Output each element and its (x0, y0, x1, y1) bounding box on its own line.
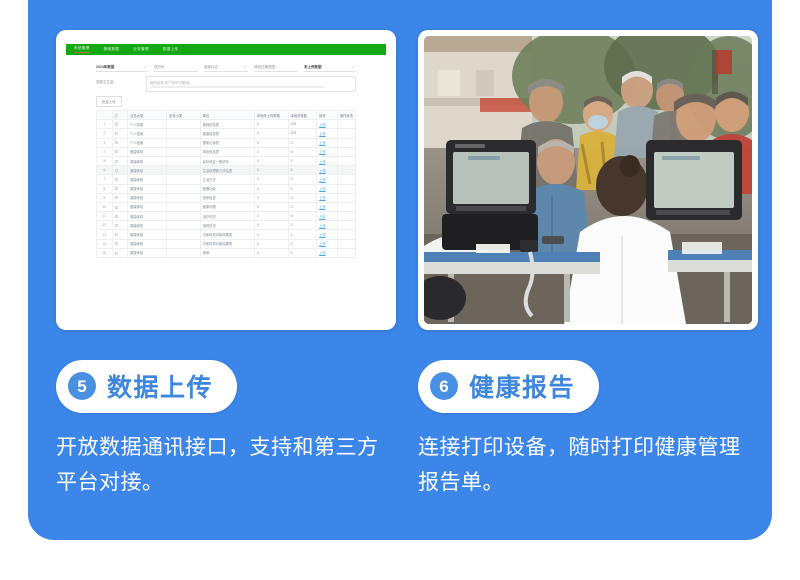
cell-table-name: 治疗情况 (200, 212, 254, 221)
checkbox-icon[interactable] (115, 169, 118, 172)
placeholder-ghost-line (150, 86, 324, 88)
badge-number-5: 5 (68, 372, 96, 400)
cell-table-name: 症状体征一般填写 (200, 156, 254, 165)
nav-item-0[interactable]: 系统管理 (74, 46, 90, 53)
upload-link[interactable]: 上传 (319, 178, 326, 182)
cell-table-name: 中医体质问卷结果表 (200, 239, 254, 248)
table-row[interactable]: 2个人档案健康信息表0103上传 (97, 129, 356, 138)
cell-pending-count: 0 (254, 193, 288, 202)
checkbox-icon[interactable] (115, 123, 118, 126)
health-screening-photo (424, 36, 752, 324)
cell-total-count: 0 (288, 166, 316, 175)
badge-health-report: 6 健康报告 (418, 360, 599, 413)
cell-category-minor (166, 212, 200, 221)
cell-action[interactable]: 上传 (317, 193, 338, 202)
cell-table-name: 脏器功能 (200, 184, 254, 193)
cell-index: 10 (97, 202, 113, 211)
th-category-minor: 业务小类 (166, 111, 200, 120)
cell-action-status (337, 129, 355, 138)
cell-total-count: 0 (288, 147, 316, 156)
description-data-upload: 开放数据通讯接口，支持和第三方平台对接。 (56, 431, 388, 500)
upload-data-table: 业务大类 业务小类 单位 本地未上传条数 本地总条数 操作 操作状态 (96, 110, 356, 258)
cell-action-status (337, 156, 355, 165)
cell-category-major: 健康体检 (128, 147, 167, 156)
badge-number-6: 6 (430, 372, 458, 400)
cell-category-minor (166, 184, 200, 193)
app-top-navbar: 系统管理 基础数据 业务管理 数据上传 (66, 44, 386, 55)
cell-action[interactable]: 上传 (317, 212, 338, 221)
upload-link[interactable]: 上传 (319, 233, 326, 237)
cell-total-count: 0 (288, 138, 316, 147)
cell-index: 3 (97, 138, 113, 147)
upload-link[interactable]: 上传 (319, 160, 326, 164)
cell-checkbox[interactable] (112, 156, 128, 165)
cell-total-count: 103 (288, 129, 316, 138)
th-select-all[interactable] (112, 111, 128, 120)
table-row[interactable]: 10健康体检健康问题00上传 (97, 202, 356, 211)
table-row[interactable]: 13健康体检中医体质问卷采集表00上传 (97, 230, 356, 239)
cell-category-major: 健康体检 (128, 221, 167, 230)
upload-link[interactable]: 上传 (319, 215, 326, 219)
cell-total-count: 103 (288, 120, 316, 129)
cell-total-count: 0 (288, 184, 316, 193)
photo-inner (424, 36, 752, 324)
cell-category-minor (166, 138, 200, 147)
cell-checkbox[interactable] (112, 147, 128, 156)
cell-action-status (337, 120, 355, 129)
page-root: 系统管理 基础数据 业务管理 数据上传 2024年数据 ▾ (0, 0, 800, 580)
cell-category-major: 健康体检 (128, 193, 167, 202)
cell-table-name: 体检信息表 (200, 147, 254, 156)
checkbox-icon[interactable] (115, 242, 118, 245)
upload-link[interactable]: 上传 (319, 150, 326, 154)
filter-status-value: 未上传数据 (304, 65, 322, 70)
th-index (97, 111, 113, 120)
cell-category-major: 健康体检 (128, 156, 167, 165)
cell-index: 1 (97, 120, 113, 129)
filter-date-value: 体检日期范围 (254, 65, 275, 70)
cell-total-count: 0 (288, 193, 316, 202)
cell-category-minor (166, 193, 200, 202)
cell-pending-count: 0 (254, 184, 288, 193)
cell-category-minor (166, 202, 200, 211)
cell-checkbox[interactable] (112, 202, 128, 211)
table-header-row: 业务大类 业务小类 单位 本地未上传条数 本地总条数 操作 操作状态 (97, 111, 356, 120)
chevron-down-icon: ▾ (244, 65, 246, 69)
upload-link[interactable]: 上传 (319, 205, 326, 209)
cell-index: 5 (97, 156, 113, 165)
cell-category-minor (166, 166, 200, 175)
cell-action-status (337, 166, 355, 175)
cell-checkbox[interactable] (112, 248, 128, 257)
cell-category-minor (166, 120, 200, 129)
th-action: 操作 (317, 111, 338, 120)
cell-action[interactable]: 上传 (317, 202, 338, 211)
cell-category-major: 健康体检 (128, 230, 167, 239)
cell-pending-count: 0 (254, 147, 288, 156)
cell-category-major: 健康体检 (128, 166, 167, 175)
id-search-textarea[interactable]: 身份证号(多个逗号分隔)或… (146, 76, 356, 92)
cell-total-count: 0 (288, 239, 316, 248)
chevron-down-icon: ▾ (144, 65, 146, 69)
cell-action-status (337, 175, 355, 184)
checkbox-icon[interactable] (115, 233, 118, 236)
cell-index: 2 (97, 129, 113, 138)
cell-action-status (337, 248, 355, 257)
cell-index: 6 (97, 166, 113, 175)
cell-checkbox[interactable] (112, 120, 128, 129)
cell-checkbox[interactable] (112, 239, 128, 248)
checkbox-icon[interactable] (115, 160, 118, 163)
cell-table-name: 其他 (200, 248, 254, 257)
cell-action[interactable]: 上传 (317, 156, 338, 165)
checkbox-icon[interactable] (115, 187, 118, 190)
cell-index: 13 (97, 230, 113, 239)
data-upload-app-screenshot: 系统管理 基础数据 业务管理 数据上传 2024年数据 ▾ (62, 36, 390, 324)
app-screenshot-frame: 系统管理 基础数据 业务管理 数据上传 2024年数据 ▾ (56, 30, 396, 330)
table-row[interactable]: 15健康体检其他00上传 (97, 248, 356, 257)
cell-index: 9 (97, 193, 113, 202)
cell-checkbox[interactable] (112, 221, 128, 230)
cell-action-status (337, 230, 355, 239)
app-screenshot-inner: 系统管理 基础数据 业务管理 数据上传 2024年数据 ▾ (62, 36, 390, 324)
cell-pending-count: 0 (254, 221, 288, 230)
filter-month-select[interactable]: 选月份 (154, 63, 198, 72)
cell-table-name: 更新记录表 (200, 138, 254, 147)
cell-table-name: 基础信息表 (200, 120, 254, 129)
cell-pending-count: 0 (254, 175, 288, 184)
cell-total-count: 0 (288, 248, 316, 257)
cell-action[interactable]: 上传 (317, 248, 338, 257)
th-pending-count: 本地未上传条数 (254, 111, 288, 120)
table-head: 业务大类 业务小类 单位 本地未上传条数 本地总条数 操作 操作状态 (97, 111, 356, 120)
checkbox-icon[interactable] (115, 206, 118, 209)
id-search-placeholder: 身份证号(多个逗号分隔)或… (150, 81, 193, 85)
cell-action[interactable]: 上传 (317, 147, 338, 156)
table-row[interactable]: 1个人档案基础信息表0103上传 (97, 120, 356, 129)
cell-category-minor (166, 248, 200, 257)
upload-link[interactable]: 上传 (319, 224, 326, 228)
nav-item-2[interactable]: 业务管理 (133, 47, 149, 52)
cell-index: 11 (97, 212, 113, 221)
cell-pending-count: 0 (254, 239, 288, 248)
cell-pending-count: 0 (254, 212, 288, 221)
cell-pending-count: 0 (254, 230, 288, 239)
cell-action[interactable]: 上传 (317, 184, 338, 193)
cell-total-count: 0 (288, 175, 316, 184)
upload-link[interactable]: 上传 (319, 242, 326, 246)
filter-row: 2024年数据 ▾ 选月份 选择片区 ▾ (70, 59, 382, 72)
checkbox-icon[interactable] (115, 224, 118, 227)
cell-action-status (337, 147, 355, 156)
photo-illustration (424, 36, 752, 324)
cell-checkbox[interactable] (112, 138, 128, 147)
th-total-count: 本地总条数 (288, 111, 316, 120)
cell-action-status (337, 193, 355, 202)
cell-category-minor (166, 156, 200, 165)
filter-year-value: 2024年数据 (96, 65, 114, 70)
upload-link[interactable]: 上传 (319, 123, 326, 127)
photo-frame (418, 30, 758, 330)
cell-action[interactable]: 上传 (317, 166, 338, 175)
cell-category-minor (166, 221, 200, 230)
cell-checkbox[interactable] (112, 230, 128, 239)
cell-checkbox[interactable] (112, 175, 128, 184)
upload-link[interactable]: 上传 (319, 132, 326, 136)
checkbox-icon[interactable] (115, 215, 118, 218)
cell-action-status (337, 138, 355, 147)
cell-index: 15 (97, 248, 113, 257)
cell-table-name: 查体信息 (200, 193, 254, 202)
cell-total-count: 0 (288, 202, 316, 211)
th-action-status: 操作状态 (337, 111, 355, 120)
cell-action-status (337, 221, 355, 230)
cell-total-count: 0 (288, 230, 316, 239)
upload-link[interactable]: 上传 (319, 169, 326, 173)
filter-date-range[interactable]: 体检日期范围 (254, 63, 298, 72)
cell-action[interactable]: 上传 (317, 230, 338, 239)
cell-table-name: 生活方式 (200, 175, 254, 184)
nav-item-1[interactable]: 基础数据 (104, 47, 120, 52)
upload-link[interactable]: 上传 (319, 141, 326, 145)
th-category-major: 业务大类 (128, 111, 167, 120)
cell-index: 7 (97, 175, 113, 184)
cell-pending-count: 0 (254, 248, 288, 257)
checkbox-icon[interactable] (115, 196, 118, 199)
search-row: 选择卫生室 身份证号(多个逗号分隔)或… (70, 72, 382, 92)
cell-category-minor (166, 239, 200, 248)
cell-index: 8 (97, 184, 113, 193)
checkbox-icon[interactable] (115, 114, 118, 117)
filter-month-value: 选月份 (154, 65, 165, 70)
badge-title-health-report: 健康报告 (469, 368, 575, 404)
cell-category-major: 健康体检 (128, 239, 167, 248)
table-row[interactable]: 8健康体检脏器功能00上传 (97, 184, 356, 193)
cell-checkbox[interactable] (112, 193, 128, 202)
upload-link[interactable]: 上传 (319, 251, 326, 255)
checkbox-icon[interactable] (115, 132, 118, 135)
cell-action-status (337, 202, 355, 211)
table-body: 1个人档案基础信息表0103上传2个人档案健康信息表0103上传3个人档案更新记… (97, 120, 356, 258)
cell-table-name: 中医体质问卷采集表 (200, 230, 254, 239)
cell-action[interactable]: 上传 (317, 239, 338, 248)
cell-index: 12 (97, 221, 113, 230)
feature-column-health-report: 6 健康报告 连接打印设备，随时打印健康管理报告单。 (418, 30, 758, 540)
filter-status-select[interactable]: 未上传数据 ▾ (304, 63, 356, 72)
table-row[interactable]: 12健康体检用药情况00上传 (97, 221, 356, 230)
cell-pending-count: 0 (254, 129, 288, 138)
filter-area-select[interactable]: 选择片区 ▾ (204, 63, 248, 72)
cell-table-name: 健康信息表 (200, 129, 254, 138)
cell-action-status (337, 239, 355, 248)
table-row[interactable]: 4健康体检体检信息表00上传 (97, 147, 356, 156)
table-row[interactable]: 11健康体检治疗情况00上传 (97, 212, 356, 221)
th-table-name: 单位 (200, 111, 254, 120)
feature-columns: 系统管理 基础数据 业务管理 数据上传 2024年数据 ▾ (28, 0, 772, 540)
table-row[interactable]: 6健康体检生活自理能力评估表00上传 (97, 166, 356, 175)
cell-action[interactable]: 上传 (317, 120, 338, 129)
badge-title-data-upload: 数据上传 (107, 368, 213, 404)
upload-link[interactable]: 上传 (319, 187, 326, 191)
cell-index: 14 (97, 239, 113, 248)
checkbox-icon[interactable] (115, 141, 118, 144)
cell-category-major: 健康体检 (128, 175, 167, 184)
cell-category-major: 健康体检 (128, 184, 167, 193)
cell-total-count: 0 (288, 156, 316, 165)
cell-category-major: 个人档案 (128, 120, 167, 129)
table-row[interactable]: 14健康体检中医体质问卷结果表00上传 (97, 239, 356, 248)
filter-area-value: 选择片区 (204, 65, 218, 70)
filter-year-select[interactable]: 2024年数据 ▾ (96, 63, 148, 72)
cell-category-major: 健康体检 (128, 202, 167, 211)
app-content-body: 2024年数据 ▾ 选月份 选择片区 ▾ (62, 59, 390, 324)
table-row[interactable]: 5健康体检症状体征一般填写00上传 (97, 156, 356, 165)
table-row[interactable]: 9健康体检查体信息00上传 (97, 193, 356, 202)
checkbox-icon[interactable] (115, 252, 118, 255)
batch-upload-button[interactable]: 批量上传 (96, 96, 122, 107)
cell-action[interactable]: 上传 (317, 175, 338, 184)
cell-pending-count: 0 (254, 166, 288, 175)
cell-pending-count: 0 (254, 202, 288, 211)
cell-action-status (337, 212, 355, 221)
cell-category-minor (166, 175, 200, 184)
cell-action-status (337, 184, 355, 193)
cell-category-minor (166, 230, 200, 239)
cell-checkbox[interactable] (112, 184, 128, 193)
cell-pending-count: 0 (254, 138, 288, 147)
upload-link[interactable]: 上传 (319, 196, 326, 200)
cell-category-major: 健康体检 (128, 248, 167, 257)
badge-data-upload: 5 数据上传 (56, 360, 237, 413)
cell-category-minor (166, 147, 200, 156)
table-row[interactable]: 3个人档案更新记录表00上传 (97, 138, 356, 147)
chevron-down-icon: ▾ (352, 65, 354, 69)
cell-category-major: 个人档案 (128, 138, 167, 147)
cell-checkbox[interactable] (112, 166, 128, 175)
checkbox-icon[interactable] (115, 178, 118, 181)
cell-action[interactable]: 上传 (317, 129, 338, 138)
cell-checkbox[interactable] (112, 129, 128, 138)
cell-category-minor (166, 129, 200, 138)
cell-table-name: 生活自理能力评估表 (200, 166, 254, 175)
cell-category-major: 个人档案 (128, 129, 167, 138)
table-row[interactable]: 7健康体检生活方式00上传 (97, 175, 356, 184)
cell-pending-count: 0 (254, 120, 288, 129)
batch-button-row: 批量上传 (70, 92, 382, 110)
cell-checkbox[interactable] (112, 212, 128, 221)
cell-action[interactable]: 上传 (317, 138, 338, 147)
nav-item-3[interactable]: 数据上传 (163, 47, 179, 52)
cell-total-count: 0 (288, 221, 316, 230)
cell-total-count: 0 (288, 212, 316, 221)
cell-action[interactable]: 上传 (317, 221, 338, 230)
cell-table-name: 健康问题 (200, 202, 254, 211)
feature-column-data-upload: 系统管理 基础数据 业务管理 数据上传 2024年数据 ▾ (56, 30, 396, 540)
cell-index: 4 (97, 147, 113, 156)
cell-category-major: 健康体检 (128, 212, 167, 221)
checkbox-icon[interactable] (115, 150, 118, 153)
cell-table-name: 用药情况 (200, 221, 254, 230)
clinic-select-label: 选择卫生室 (96, 76, 140, 85)
description-health-report: 连接打印设备，随时打印健康管理报告单。 (418, 431, 750, 500)
cell-pending-count: 0 (254, 156, 288, 165)
